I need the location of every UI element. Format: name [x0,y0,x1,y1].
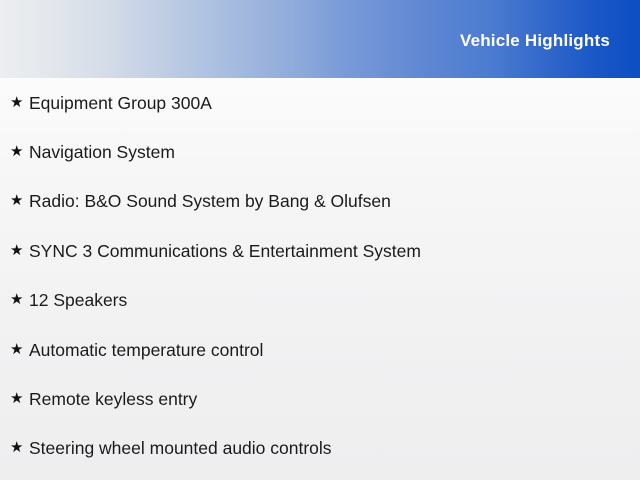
list-item: ★ Navigation System [0,127,640,176]
list-item: ★ SYNC 3 Communications & Entertainment … [0,226,640,275]
header-band: Vehicle Highlights [0,0,640,78]
star-icon: ★ [10,144,23,159]
highlight-label: SYNC 3 Communications & Entertainment Sy… [29,240,640,262]
highlight-label: Equipment Group 300A [29,92,640,114]
star-icon: ★ [10,193,23,208]
star-icon: ★ [10,391,23,406]
highlight-label: 12 Speakers [29,289,640,311]
highlight-label: Automatic temperature control [29,339,640,361]
highlights-list: ★ Equipment Group 300A ★ Navigation Syst… [0,78,640,473]
highlight-label: Radio: B&O Sound System by Bang & Olufse… [29,190,640,212]
star-icon: ★ [10,243,23,258]
highlight-label: Steering wheel mounted audio controls [29,437,640,459]
page-title: Vehicle Highlights [460,30,610,52]
highlight-label: Navigation System [29,141,640,163]
list-item: ★ 12 Speakers [0,276,640,325]
list-item: ★ Steering wheel mounted audio controls [0,424,640,473]
list-item: ★ Automatic temperature control [0,325,640,374]
star-icon: ★ [10,440,23,455]
vehicle-highlights-slide: Vehicle Highlights ★ Equipment Group 300… [0,0,640,480]
star-icon: ★ [10,292,23,307]
list-item: ★ Equipment Group 300A [0,78,640,127]
star-icon: ★ [10,342,23,357]
list-item: ★ Radio: B&O Sound System by Bang & Oluf… [0,177,640,226]
highlight-label: Remote keyless entry [29,388,640,410]
star-icon: ★ [10,95,23,110]
list-item: ★ Remote keyless entry [0,374,640,423]
